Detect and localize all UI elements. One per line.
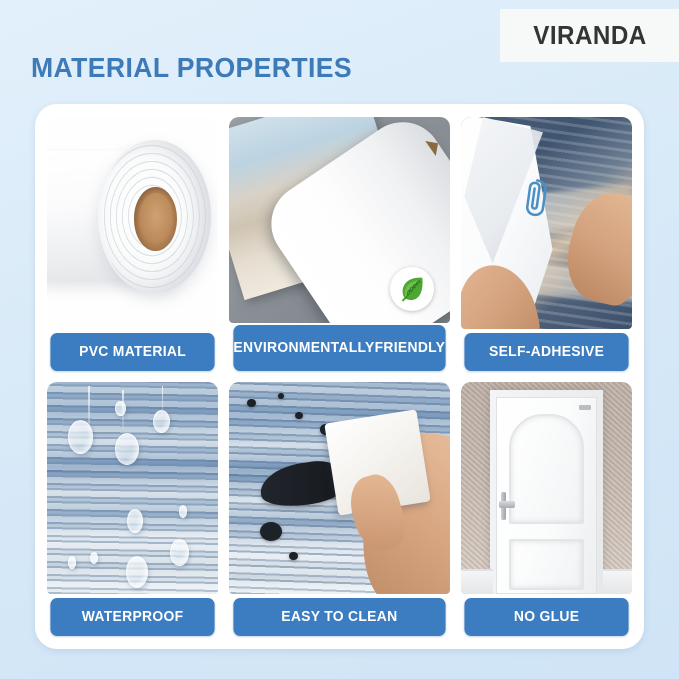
water-droplet (68, 420, 94, 454)
roll-tip-shape (423, 141, 438, 156)
feature-card-waterproof: WATERPROOF (47, 382, 218, 636)
door-panel-bottom-shape (509, 539, 584, 590)
green-leaf-icon-glyph (397, 274, 427, 304)
water-droplet (115, 433, 139, 465)
feature-label-easy-to-clean: EASY TO CLEAN (234, 598, 446, 636)
green-leaf-icon (390, 267, 434, 311)
brand-logo-box: VIRANDA (500, 9, 679, 62)
self-adhesive-image (461, 117, 632, 329)
water-droplet (115, 401, 125, 416)
water-droplet (153, 410, 170, 433)
dirt-spot (289, 552, 298, 560)
cardboard-core-inner-shape (139, 193, 173, 244)
dirt-spot (247, 399, 256, 407)
dirt-spot (295, 412, 303, 419)
feature-card-environmentally-friendly: ENVIRONMENTALLY FRIENDLY (229, 117, 450, 371)
pvc-material-image (47, 117, 218, 329)
dirt-spot (260, 522, 282, 541)
no-glue-image (461, 382, 632, 594)
baseboard-left-shape (461, 569, 494, 594)
feature-label-waterproof: WATERPROOF (50, 598, 214, 636)
door-hinge-shape (579, 405, 591, 409)
brand-name: VIRANDA (533, 20, 646, 51)
label-line-2: FRIENDLY (375, 341, 446, 356)
features-panel: PVC MATERIAL (35, 104, 644, 649)
feature-card-pvc-material: PVC MATERIAL (47, 117, 218, 371)
water-droplet (179, 505, 188, 518)
door-panel-top-shape (509, 414, 584, 524)
environmentally-friendly-image (229, 117, 450, 323)
feature-label-no-glue: NO GLUE (464, 598, 628, 636)
baseboard-right-shape (603, 569, 632, 594)
water-droplet (68, 556, 77, 569)
feature-card-no-glue: NO GLUE (461, 382, 632, 636)
water-droplet (127, 509, 142, 532)
feature-card-self-adhesive: SELF-ADHESIVE (461, 117, 632, 371)
feature-card-easy-to-clean: EASY TO CLEAN (229, 382, 450, 636)
feature-label-pvc-material: PVC MATERIAL (50, 333, 214, 371)
water-droplet (126, 556, 148, 588)
paperclip-icon (514, 172, 556, 223)
features-grid: PVC MATERIAL (47, 117, 632, 636)
label-line-1: ENVIRONMENTALLY (234, 341, 375, 356)
page-title: MATERIAL PROPERTIES (31, 52, 352, 84)
waterproof-image (47, 382, 218, 594)
easy-to-clean-image (229, 382, 450, 594)
feature-label-self-adhesive: SELF-ADHESIVE (464, 333, 628, 371)
door-handle-shape (499, 501, 514, 508)
feature-label-environmentally-friendly: ENVIRONMENTALLY FRIENDLY (234, 325, 446, 371)
